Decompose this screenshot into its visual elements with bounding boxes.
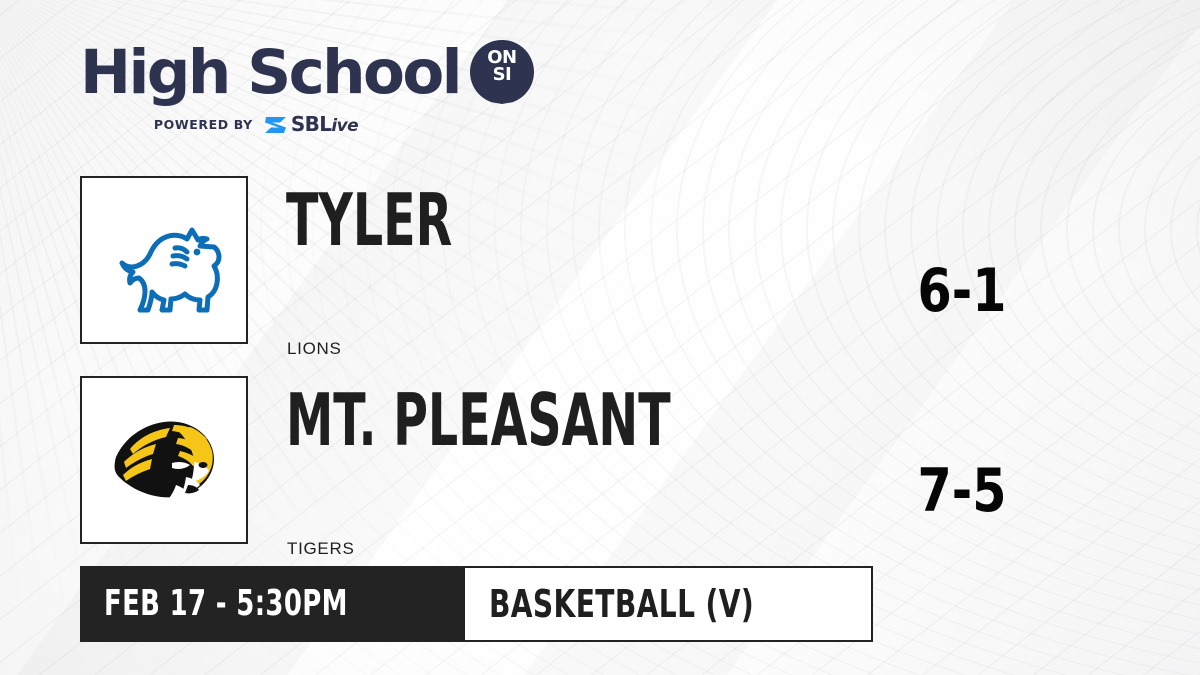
- sblive-lightning-icon: [263, 115, 289, 135]
- pin-label-line2: SI: [469, 66, 535, 83]
- team-mascot-home: LIONS: [287, 339, 342, 359]
- event-banner: FEB 17 - 5:30PM BASKETBALL (V): [80, 566, 873, 642]
- team-record-home: 6-1: [880, 261, 1044, 321]
- sblive-wordmark: SBLive: [291, 114, 358, 135]
- sblive-word-main: SBL: [291, 112, 332, 136]
- event-date-block: FEB 17 - 5:30PM: [80, 566, 465, 642]
- pin-label: ON SI: [469, 49, 535, 83]
- location-pin-icon: ON SI: [469, 39, 535, 105]
- matchup-graphic: High School ON SI POWERED BY SBLive: [0, 0, 1200, 675]
- team-name-away: MT. PLEASANT: [286, 384, 671, 456]
- team-mascot-away: TIGERS: [287, 539, 355, 559]
- team-name-home: TYLER: [286, 184, 452, 256]
- brand-wordmark: High School: [80, 42, 460, 103]
- lion-leaping-logo: [104, 200, 224, 320]
- event-date-time: FEB 17 - 5:30PM: [104, 586, 348, 622]
- event-sport-block: BASKETBALL (V): [465, 566, 873, 642]
- powered-by-row: POWERED BY SBLive: [80, 114, 432, 135]
- sblive-word-italic: ive: [331, 116, 358, 136]
- team-logo-box-away: [80, 376, 248, 544]
- brand-header: High School ON SI POWERED BY SBLive: [80, 36, 520, 135]
- tiger-head-logo: [102, 405, 226, 515]
- brand-logo-row: High School ON SI: [80, 36, 520, 108]
- team-record-away: 7-5: [880, 461, 1044, 521]
- team-logo-box-home: [80, 176, 248, 344]
- sblive-logo: SBLive: [263, 114, 358, 135]
- event-sport-label: BASKETBALL (V): [489, 585, 754, 623]
- powered-by-label: POWERED BY: [154, 117, 253, 132]
